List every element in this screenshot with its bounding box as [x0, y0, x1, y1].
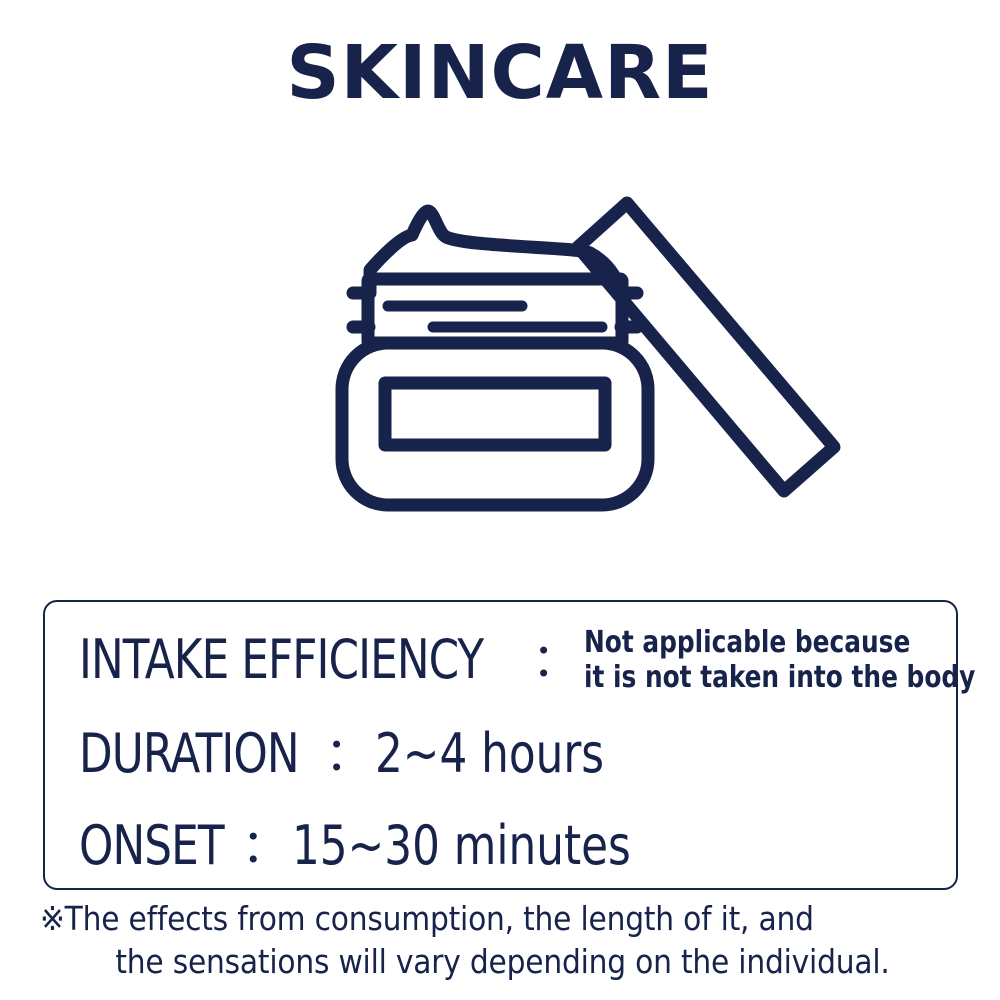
skincare-info-card: SKINCARE: [0, 0, 1000, 1000]
intake-efficiency-label: INTAKE EFFICIENCY: [79, 633, 483, 687]
intake-efficiency-value-line-2: it is not taken into the body: [584, 660, 975, 695]
info-row-intake-efficiency: INTAKE EFFICIENCY ： Not applicable becau…: [79, 612, 942, 708]
info-rows: INTAKE EFFICIENCY ： Not applicable becau…: [79, 612, 942, 878]
info-row-onset: ONSET ： 15~30 minutes: [79, 800, 942, 892]
skincare-cream-jar-icon: [150, 175, 850, 545]
duration-value: 2~4 hours: [375, 727, 604, 781]
cream-jar-illustration: [150, 175, 850, 545]
footnote-line-2: the sensations will vary depending on th…: [40, 941, 965, 984]
jar-rim-icon: [353, 279, 637, 343]
duration-separator: ：: [323, 731, 375, 777]
intake-efficiency-value: Not applicable because it is not taken i…: [584, 625, 975, 696]
intake-efficiency-value-line-1: Not applicable because: [584, 625, 975, 660]
jar-body-icon: [342, 343, 648, 505]
footnote-line-1: ※The effects from consumption, the lengt…: [40, 898, 965, 941]
onset-label: ONSET: [79, 819, 224, 873]
page-title: SKINCARE: [0, 36, 1000, 110]
footnote: ※The effects from consumption, the lengt…: [40, 898, 965, 984]
info-row-duration: DURATION ： 2~4 hours: [79, 708, 942, 800]
duration-label: DURATION: [79, 727, 299, 781]
info-box: INTAKE EFFICIENCY ： Not applicable becau…: [43, 600, 958, 890]
onset-separator: ：: [240, 823, 292, 869]
intake-efficiency-separator: ：: [528, 637, 584, 683]
onset-value: 15~30 minutes: [292, 819, 631, 873]
